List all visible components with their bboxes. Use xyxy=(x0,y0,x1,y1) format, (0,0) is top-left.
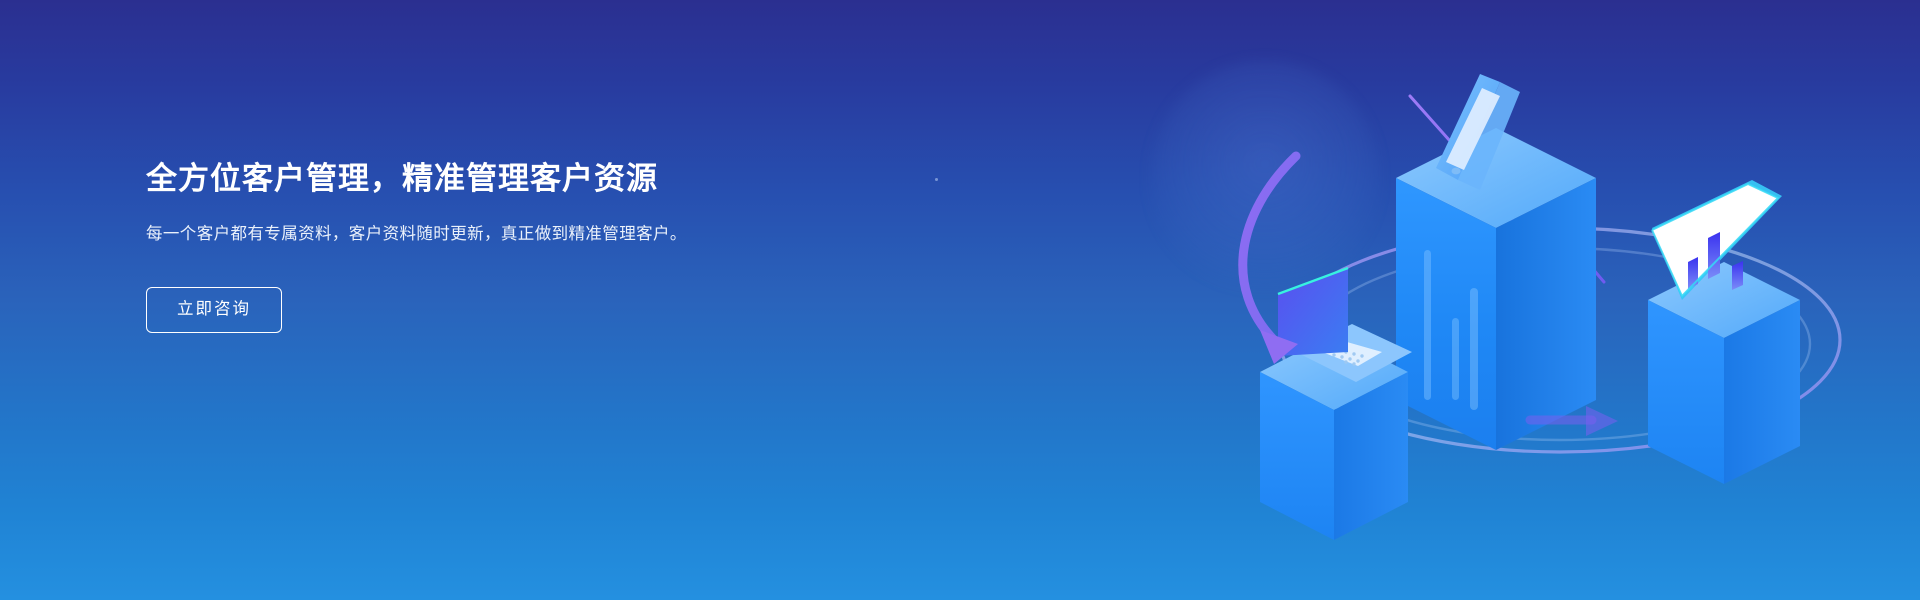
monitor-chart xyxy=(1652,180,1782,300)
orbit-ring xyxy=(1280,228,1840,452)
consult-now-button[interactable]: 立即咨询 xyxy=(146,287,282,333)
pedestal-left xyxy=(1260,334,1408,540)
hero-banner: 全方位客户管理，精准管理客户资源 每一个客户都有专属资料，客户资料随时更新，真正… xyxy=(0,0,1920,600)
background-dot xyxy=(935,178,938,181)
hero-illustration xyxy=(1200,0,1920,600)
hero-copy: 全方位客户管理，精准管理客户资源 每一个客户都有专属资料，客户资料随时更新，真正… xyxy=(146,160,786,333)
page-title: 全方位客户管理，精准管理客户资源 xyxy=(146,160,786,199)
arrow-right xyxy=(1530,406,1618,436)
trend-polyline xyxy=(1410,96,1604,282)
tablet xyxy=(1436,74,1520,190)
monitor-bars xyxy=(1688,232,1743,290)
hero-subtitle: 每一个客户都有专属资料，客户资料随时更新，真正做到精准管理客户。 xyxy=(146,221,746,248)
pedestal-right xyxy=(1648,262,1800,484)
pedestal-center xyxy=(1396,128,1596,450)
arrow-left xyxy=(1243,156,1298,364)
background-glow xyxy=(1150,60,1380,290)
laptop xyxy=(1278,268,1412,382)
